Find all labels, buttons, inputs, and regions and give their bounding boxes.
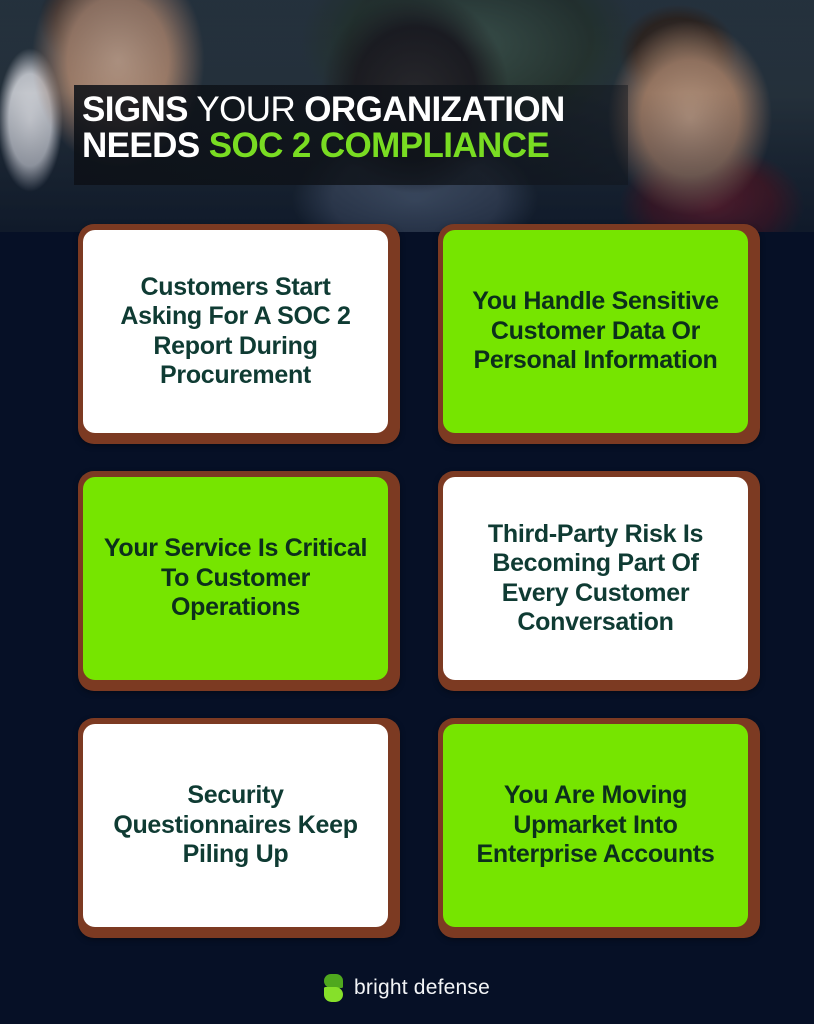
title-line-2: NEEDS SOC 2 COMPLIANCE: [82, 128, 682, 164]
sign-card-2-text: You Handle Sensitive Customer Data Or Pe…: [461, 287, 730, 376]
card-shell-5: Security Questionnaires Keep Piling Up: [78, 718, 400, 938]
sign-card-2: You Handle Sensitive Customer Data Or Pe…: [443, 230, 748, 433]
sign-card-3: Your Service Is Critical To Customer Ope…: [83, 477, 388, 680]
card-shell-2: You Handle Sensitive Customer Data Or Pe…: [438, 224, 760, 444]
sign-card-6: You Are Moving Upmarket Into Enterprise …: [443, 724, 748, 927]
sign-card-5: Security Questionnaires Keep Piling Up: [83, 724, 388, 927]
sign-card-6-text: You Are Moving Upmarket Into Enterprise …: [461, 781, 730, 870]
page-title: SIGNS YOUR ORGANIZATION NEEDS SOC 2 COMP…: [82, 92, 682, 165]
sign-card-1-text: Customers Start Asking For A SOC 2 Repor…: [101, 273, 370, 391]
title-line-1: SIGNS YOUR ORGANIZATION: [82, 92, 682, 128]
bright-defense-b-mark-icon: [324, 974, 343, 1002]
title-soc2-compliance: SOC 2 COMPLIANCE: [209, 126, 549, 165]
card-shell-3: Your Service Is Critical To Customer Ope…: [78, 471, 400, 691]
signs-card-grid: Customers Start Asking For A SOC 2 Repor…: [78, 224, 760, 938]
card-shell-4: Third-Party Risk Is Becoming Part Of Eve…: [438, 471, 760, 691]
footer-brand: bright defense: [0, 974, 814, 1002]
title-organization: ORGANIZATION: [304, 90, 564, 129]
sign-card-5-text: Security Questionnaires Keep Piling Up: [101, 781, 370, 870]
card-shell-1: Customers Start Asking For A SOC 2 Repor…: [78, 224, 400, 444]
infographic-poster: SIGNS YOUR ORGANIZATION NEEDS SOC 2 COMP…: [0, 0, 814, 1024]
b-mark-bottom-shape: [324, 987, 343, 1002]
sign-card-1: Customers Start Asking For A SOC 2 Repor…: [83, 230, 388, 433]
b-mark-top-shape: [324, 974, 343, 988]
sign-card-4: Third-Party Risk Is Becoming Part Of Eve…: [443, 477, 748, 680]
sign-card-4-text: Third-Party Risk Is Becoming Part Of Eve…: [461, 520, 730, 638]
title-signs: SIGNS: [82, 90, 188, 129]
title-your: YOUR: [188, 90, 304, 129]
sign-card-3-text: Your Service Is Critical To Customer Ope…: [101, 534, 370, 623]
card-shell-6: You Are Moving Upmarket Into Enterprise …: [438, 718, 760, 938]
brand-name: bright defense: [354, 976, 490, 1000]
title-needs: NEEDS: [82, 126, 209, 165]
